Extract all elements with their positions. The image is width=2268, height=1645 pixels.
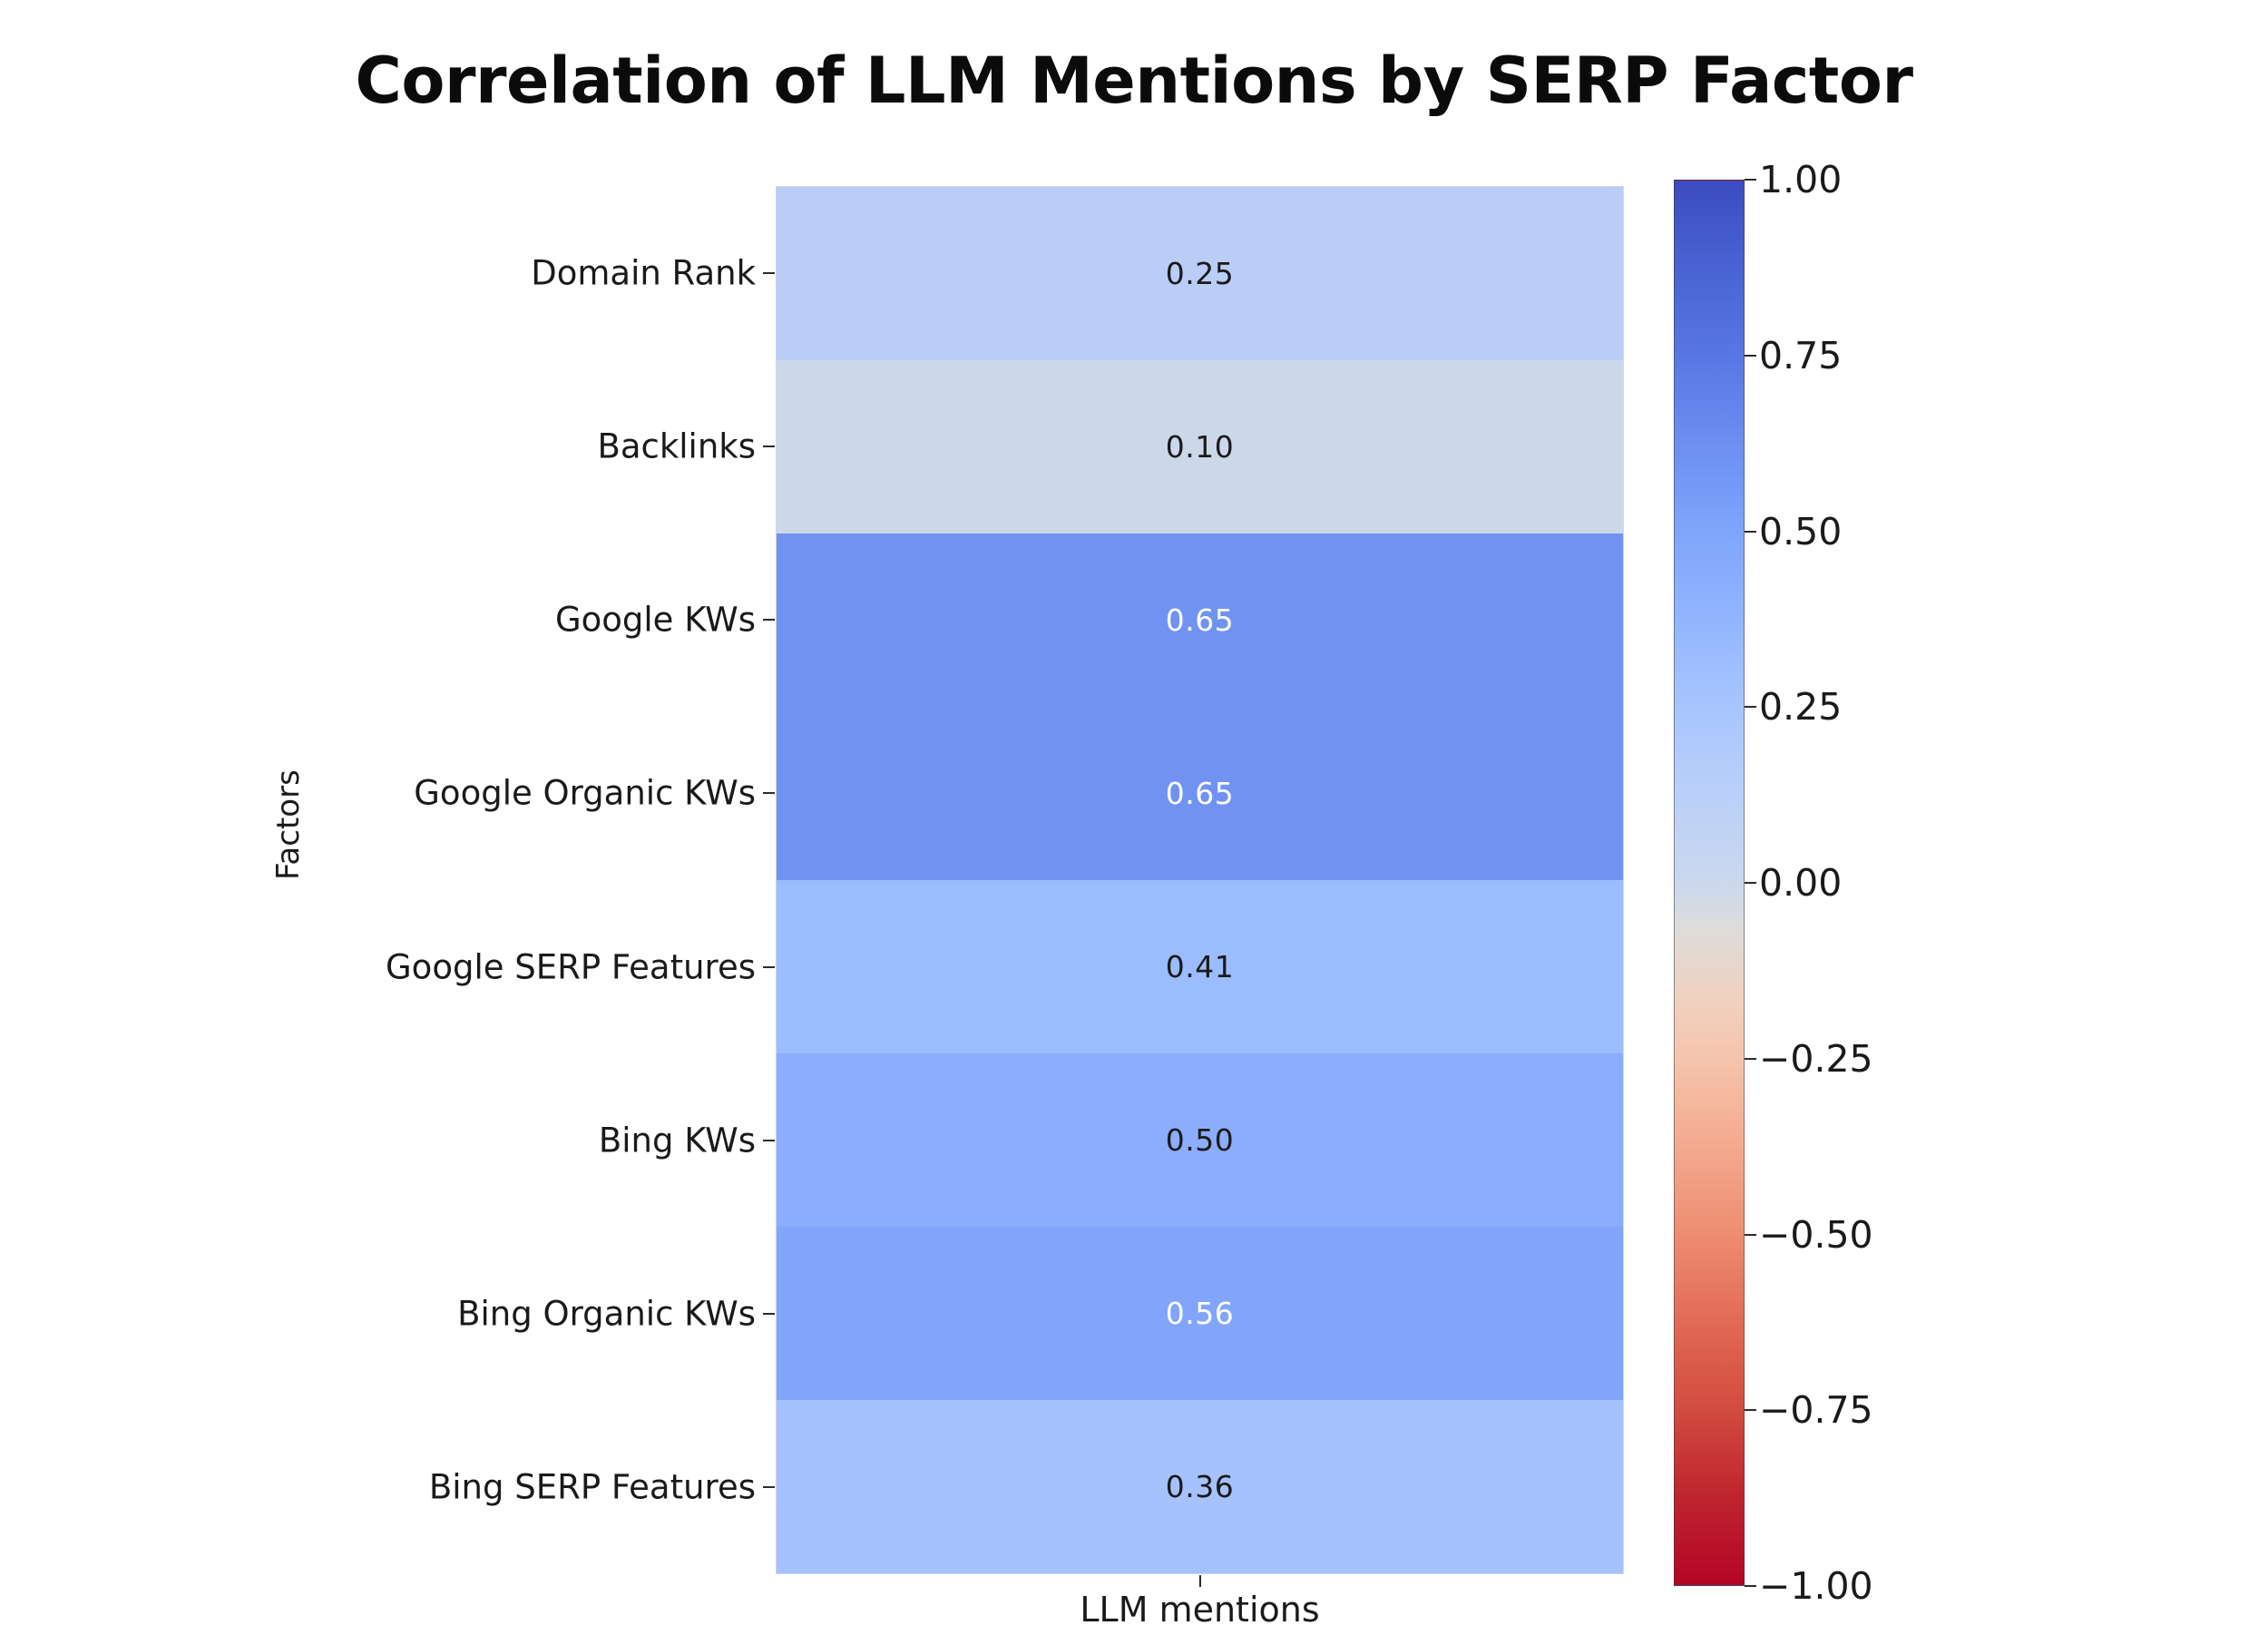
y-axis-tick-mark [763,1313,775,1315]
colorbar-tick-label: 0.00 [1759,861,1842,905]
y-axis-tick-label: Google SERP Features [386,947,756,986]
heatmap-cell: 0.56 [777,1227,1623,1400]
heatmap-cell-value: 0.36 [1166,1469,1234,1504]
colorbar-tick-mark [1745,179,1756,181]
y-axis-tick-label: Bing SERP Features [429,1468,756,1507]
colorbar-tick-label: −1.00 [1759,1564,1873,1608]
heatmap-plot: 0.250.100.650.650.410.500.560.36 [776,186,1624,1574]
heatmap-cell: 0.41 [777,880,1623,1053]
colorbar-tick-label: −0.25 [1759,1037,1873,1081]
colorbar-tick-mark [1745,1585,1756,1587]
y-axis-tick-mark [763,1486,775,1488]
colorbar-tick-label: 0.25 [1759,685,1842,729]
colorbar-tick-label: −0.50 [1759,1213,1873,1257]
heatmap-cell-value: 0.65 [1166,602,1234,638]
heatmap-cell-value: 0.65 [1166,776,1234,811]
y-axis-tick-mark [763,792,775,794]
y-axis-tick-mark [763,446,775,447]
heatmap-cell-value: 0.25 [1166,256,1234,291]
y-axis-tick-mark [763,619,775,621]
page-title: Correlation of LLM Mentions by SERP Fact… [0,44,2268,118]
heatmap-cell: 0.65 [777,534,1623,707]
colorbar-tick-mark [1745,706,1756,708]
y-axis-title: Factors [270,769,307,880]
y-axis-tick-label: Bing KWs [599,1121,756,1160]
y-axis-tick-label: Domain Rank [531,253,756,292]
y-axis-tick-mark [763,272,775,274]
colorbar-tick-label: 1.00 [1759,158,1842,201]
heatmap-cell: 0.65 [777,707,1623,880]
colorbar [1674,180,1745,1586]
colorbar-tick-mark [1745,355,1756,357]
heatmap-cell-value: 0.56 [1166,1296,1234,1331]
y-axis-tick-label: Backlinks [597,426,756,465]
colorbar-tick-label: 0.75 [1759,334,1842,377]
y-axis-tick-label: Google KWs [555,601,756,640]
x-axis-tick-mark [1199,1575,1201,1587]
y-axis-tick-label: Google Organic KWs [414,774,756,813]
colorbar-tick-label: −0.75 [1759,1388,1873,1432]
colorbar-tick-label: 0.50 [1759,510,1842,553]
heatmap-cell-value: 0.50 [1166,1122,1234,1158]
heatmap-cell: 0.10 [777,360,1623,534]
colorbar-tick-mark [1745,882,1756,884]
y-axis-tick-mark [763,966,775,968]
x-axis-title: LLM mentions [776,1590,1624,1630]
heatmap-cell: 0.25 [777,187,1623,360]
colorbar-tick-mark [1745,1058,1756,1060]
heatmap-cell: 0.50 [777,1053,1623,1227]
y-axis-tick-label: Bing Organic KWs [457,1295,756,1334]
heatmap-cell-value: 0.41 [1166,949,1234,984]
chart-canvas: Correlation of LLM Mentions by SERP Fact… [0,0,2268,1645]
colorbar-tick-mark [1745,531,1756,533]
colorbar-tick-mark [1745,1234,1756,1236]
colorbar-tick-mark [1745,1409,1756,1411]
y-axis-tick-mark [763,1140,775,1141]
heatmap-cell-value: 0.10 [1166,429,1234,465]
heatmap-cell: 0.36 [777,1400,1623,1573]
